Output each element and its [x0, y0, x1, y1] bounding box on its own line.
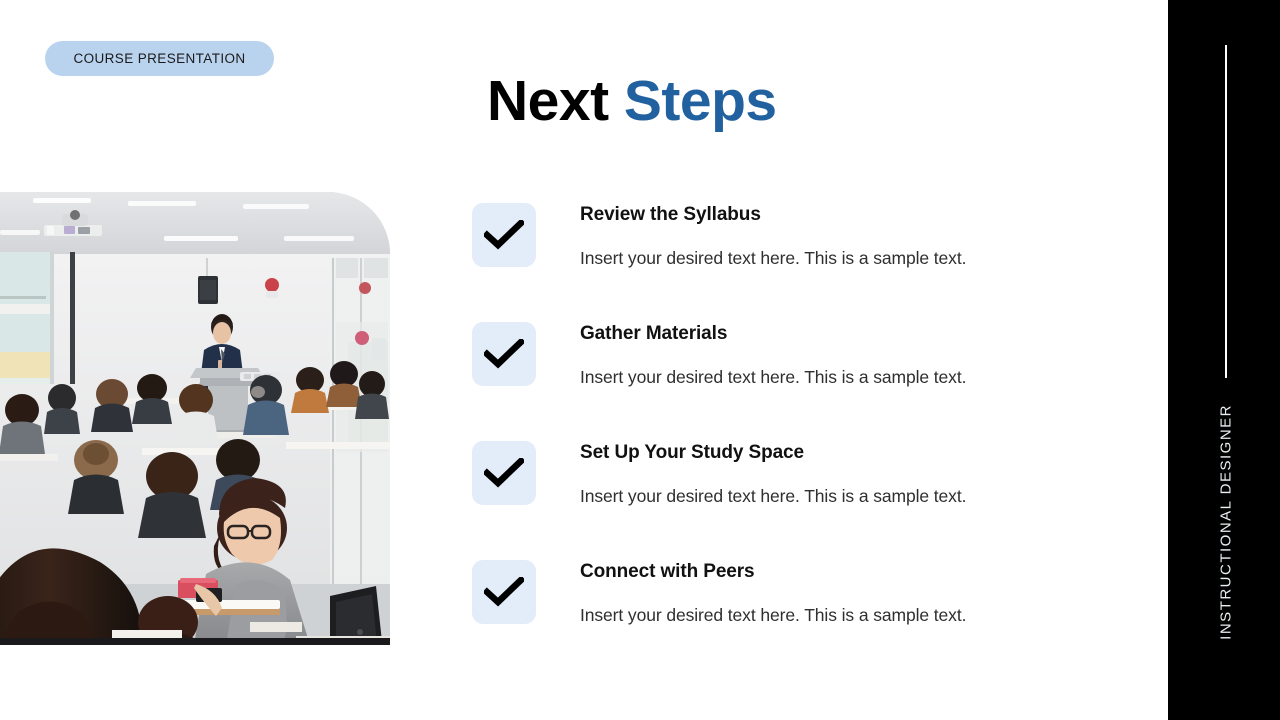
- check-icon: [472, 322, 536, 386]
- list-item-title: Set Up Your Study Space: [580, 442, 966, 465]
- list-item[interactable]: Set Up Your Study Space Insert your desi…: [472, 441, 1132, 560]
- course-presentation-badge: COURSE PRESENTATION: [45, 41, 274, 76]
- side-panel-label: INSTRUCTIONAL DESIGNER: [1218, 404, 1235, 640]
- list-item-description: Insert your desired text here. This is a…: [580, 248, 966, 269]
- vertical-rule-divider: [1225, 45, 1227, 378]
- list-item-description: Insert your desired text here. This is a…: [580, 367, 966, 388]
- slide-canvas: COURSE PRESENTATION Next Steps: [0, 0, 1280, 720]
- side-panel: INSTRUCTIONAL DESIGNER: [1168, 0, 1280, 720]
- badge-label: COURSE PRESENTATION: [73, 51, 245, 66]
- page-title: Next Steps: [487, 72, 777, 132]
- check-icon: [472, 203, 536, 267]
- classroom-photo: [0, 192, 390, 645]
- list-item[interactable]: Gather Materials Insert your desired tex…: [472, 322, 1132, 441]
- check-icon: [472, 560, 536, 624]
- list-item-description: Insert your desired text here. This is a…: [580, 605, 966, 626]
- list-item[interactable]: Connect with Peers Insert your desired t…: [472, 560, 1132, 679]
- list-item-text: Gather Materials Insert your desired tex…: [580, 322, 966, 388]
- list-item-text: Set Up Your Study Space Insert your desi…: [580, 441, 966, 507]
- page-title-part2: Steps: [624, 69, 777, 133]
- check-icon: [472, 441, 536, 505]
- list-item-title: Gather Materials: [580, 323, 966, 346]
- list-item-title: Connect with Peers: [580, 561, 966, 584]
- next-steps-checklist: Review the Syllabus Insert your desired …: [472, 203, 1132, 679]
- list-item-text: Connect with Peers Insert your desired t…: [580, 560, 966, 626]
- list-item[interactable]: Review the Syllabus Insert your desired …: [472, 203, 1132, 322]
- list-item-description: Insert your desired text here. This is a…: [580, 486, 966, 507]
- list-item-title: Review the Syllabus: [580, 204, 966, 227]
- list-item-text: Review the Syllabus Insert your desired …: [580, 203, 966, 269]
- page-title-part1: Next: [487, 69, 609, 133]
